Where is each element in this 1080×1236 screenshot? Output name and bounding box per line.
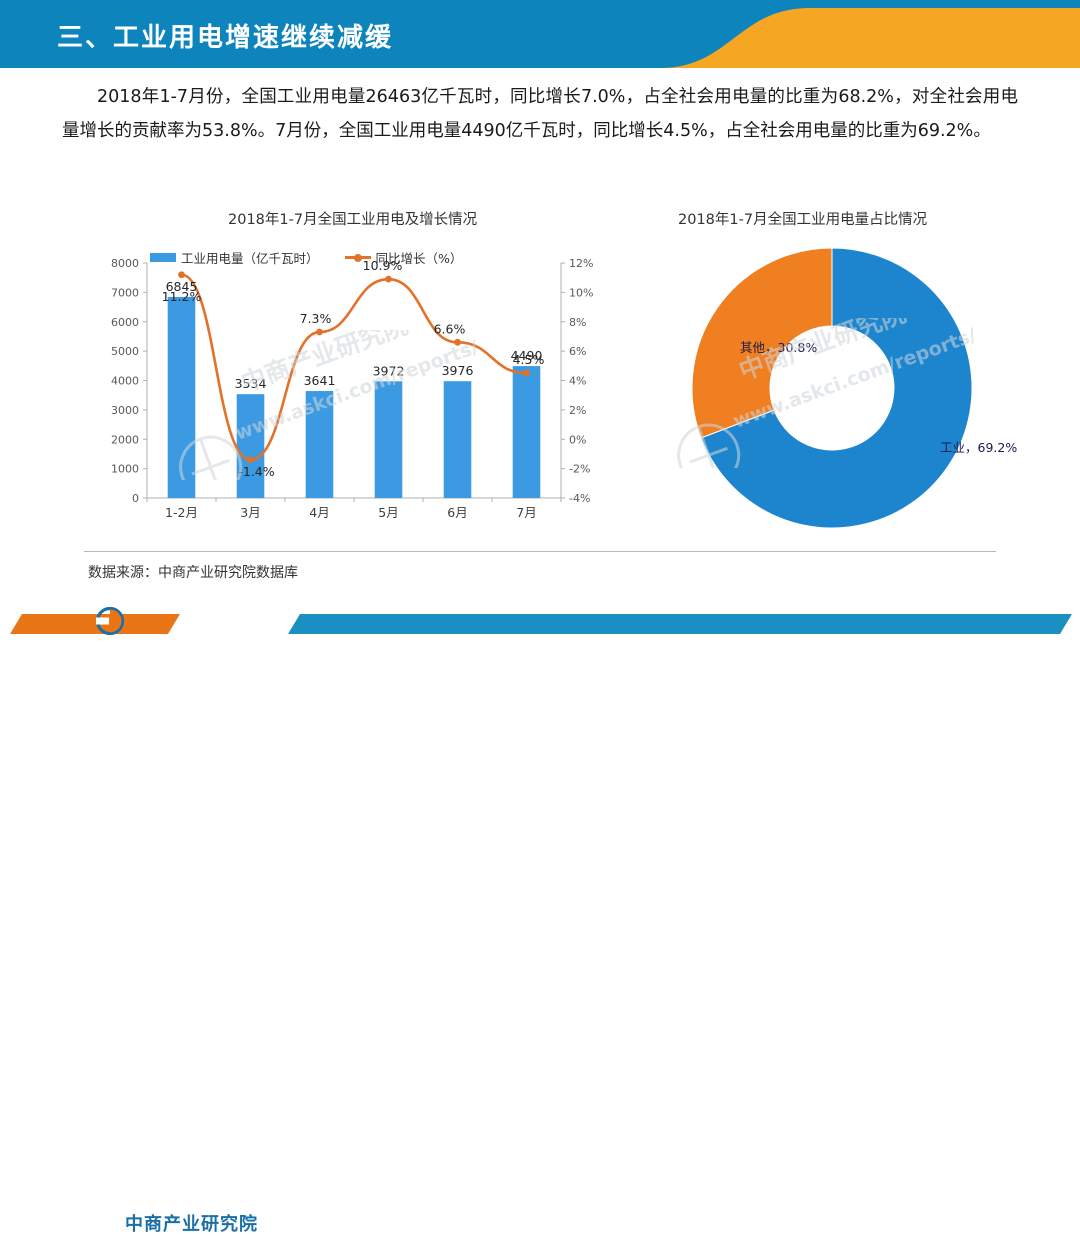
growth-line [182, 275, 527, 460]
donut-slice-label: 工业，69.2% [940, 440, 1017, 455]
body-paragraph: 2018年1-7月份，全国工业用电量26463亿千瓦时，同比增长7.0%，占全社… [62, 80, 1018, 148]
x-axis-tick-label: 1-2月 [165, 505, 198, 520]
header-divider [0, 68, 1080, 73]
line-data-point [178, 271, 185, 278]
y-axis-left-tick: 2000 [111, 433, 139, 446]
line-value-label: 4.5% [513, 352, 545, 367]
line-data-point [454, 339, 461, 346]
line-value-label: -1.4% [238, 464, 274, 479]
y-axis-right-tick: 4% [569, 375, 586, 388]
y-axis-left-tick: 3000 [111, 404, 139, 417]
line-data-point [385, 276, 392, 283]
x-axis-tick-label: 7月 [516, 505, 536, 520]
pie-chart-title: 2018年1-7月全国工业用电量占比情况 [678, 208, 927, 229]
footer-brand: 中商产业研究院 [125, 1210, 258, 1236]
donut-slice-label: 其他，30.8% [740, 340, 817, 355]
footer-orange-tag-icon [10, 614, 180, 634]
y-axis-right-tick: -2% [569, 463, 590, 476]
y-axis-right-tick: 6% [569, 345, 586, 358]
y-axis-left-tick: 4000 [111, 375, 139, 388]
x-axis-tick-label: 5月 [378, 505, 398, 520]
footer-shapes [0, 600, 1080, 639]
y-axis-right-tick: 2% [569, 404, 586, 417]
y-axis-right-tick: 8% [569, 316, 586, 329]
x-axis-tick-label: 6月 [447, 505, 467, 520]
footer-phone: 400-666-1917 [882, 1211, 999, 1229]
y-axis-right-tick: 10% [569, 286, 593, 299]
header-accent-shape [660, 0, 1080, 68]
page-title: 三、工业用电增速继续减缓 [57, 17, 393, 54]
y-axis-left-tick: 0 [132, 492, 139, 505]
bar-value-label: 3534 [235, 376, 267, 391]
line-data-point [523, 370, 530, 377]
y-axis-left-tick: 5000 [111, 345, 139, 358]
bar-column [306, 391, 334, 498]
line-value-label: 11.2% [162, 289, 202, 304]
y-axis-right-tick: 0% [569, 433, 586, 446]
bar-value-label: 3972 [373, 363, 405, 378]
bar-value-label: 3641 [304, 373, 336, 388]
line-value-label: 6.6% [434, 321, 466, 336]
source-text: 数据来源：中商产业研究院数据库 [88, 562, 298, 582]
x-axis-tick-label: 4月 [309, 505, 329, 520]
line-data-point [247, 456, 254, 463]
footer-slogan: 为全球商业领袖提供决策咨询 [660, 1212, 855, 1233]
bar-column [444, 381, 472, 498]
source-divider [84, 551, 996, 552]
line-value-label: 7.3% [300, 311, 332, 326]
y-axis-left-tick: 1000 [111, 463, 139, 476]
footer-blue-bar [288, 614, 1072, 634]
bar-column [513, 366, 541, 498]
page-footer: 中商产业研究院 为全球商业领袖提供决策咨询 400-666-1917 [0, 600, 1080, 639]
y-axis-right-tick: 12% [569, 257, 593, 270]
y-axis-left-tick: 7000 [111, 286, 139, 299]
y-axis-left-tick: 8000 [111, 257, 139, 270]
bar-line-chart: 010002000300040005000600070008000-4%-2%0… [95, 255, 615, 530]
donut-chart: 工业，69.2%其他，30.8% [640, 240, 1040, 540]
line-value-label: 10.9% [363, 258, 403, 273]
y-axis-right-tick: -4% [569, 492, 590, 505]
page-header: 三、工业用电增速继续减缓 [0, 0, 1080, 68]
line-data-point [316, 329, 323, 336]
x-axis-tick-label: 3月 [240, 505, 260, 520]
bar-value-label: 3976 [442, 363, 474, 378]
bar-column [237, 394, 265, 498]
bar-chart-title: 2018年1-7月全国工业用电及增长情况 [228, 208, 477, 229]
bar-column [168, 297, 196, 498]
y-axis-left-tick: 6000 [111, 316, 139, 329]
bar-column [375, 381, 403, 498]
